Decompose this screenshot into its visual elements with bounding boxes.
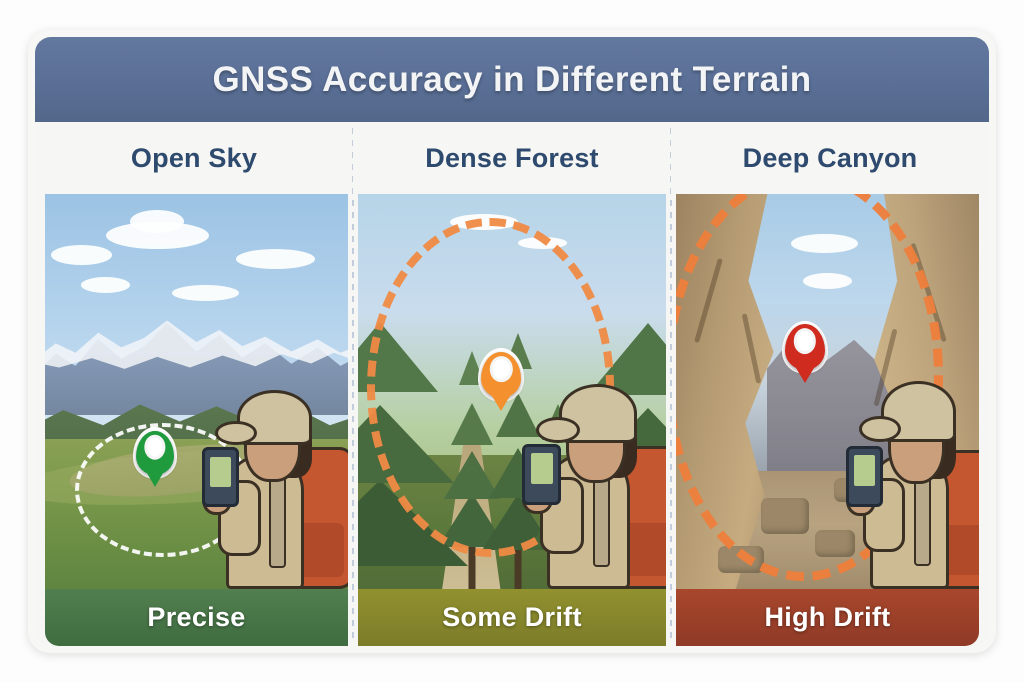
panel-heading-open-sky: Open Sky: [35, 122, 353, 194]
gps-screen: [210, 457, 231, 487]
panel-dense-forest: Dense Forest: [353, 122, 671, 646]
pin-center-dot: [794, 328, 816, 354]
panel-art-dense-forest: [358, 194, 666, 589]
page-title: GNSS Accuracy in Different Terrain: [212, 60, 811, 100]
cloud-icon: [51, 245, 112, 265]
cap-brim: [215, 421, 257, 445]
scene-dense-forest: [358, 194, 666, 589]
panel-heading-deep-canyon: Deep Canyon: [671, 122, 989, 194]
caption-open-sky: Precise: [45, 589, 348, 646]
scene-open-sky: [45, 194, 348, 589]
header-bar: GNSS Accuracy in Different Terrain: [35, 37, 989, 122]
gps-screen: [854, 455, 875, 486]
panel-open-sky: Open Sky: [35, 122, 353, 646]
scene-deep-canyon: [676, 194, 979, 589]
gps-device: [846, 446, 883, 507]
gps-screen: [531, 453, 553, 484]
panel-art-open-sky: [45, 194, 348, 589]
cloud-icon: [236, 249, 315, 269]
cloud-icon: [81, 277, 129, 293]
map-pin-icon-open-sky: [136, 431, 174, 475]
infographic-card: GNSS Accuracy in Different Terrain Open …: [28, 30, 996, 653]
panel-deep-canyon: Deep Canyon: [671, 122, 989, 646]
caption-dense-forest: Some Drift: [358, 589, 666, 646]
cap-brim: [536, 417, 580, 443]
card-inner: GNSS Accuracy in Different Terrain Open …: [35, 37, 989, 646]
panel-row: Open Sky: [35, 122, 989, 646]
gps-device: [522, 444, 560, 505]
hiker-figure: [821, 360, 979, 589]
infographic-root: GNSS Accuracy in Different Terrain Open …: [0, 0, 1024, 683]
pin-tip: [144, 468, 166, 487]
gps-device: [202, 447, 239, 506]
hiker-figure: [184, 384, 348, 589]
pin-center-dot: [144, 435, 165, 460]
panel-heading-dense-forest: Dense Forest: [353, 122, 671, 194]
map-pin-icon-deep-canyon: [785, 324, 825, 370]
caption-deep-canyon: High Drift: [676, 589, 979, 646]
hiker-figure: [500, 368, 666, 589]
cloud-icon: [172, 285, 239, 301]
panel-art-deep-canyon: [676, 194, 979, 589]
pin-tip: [793, 363, 817, 383]
